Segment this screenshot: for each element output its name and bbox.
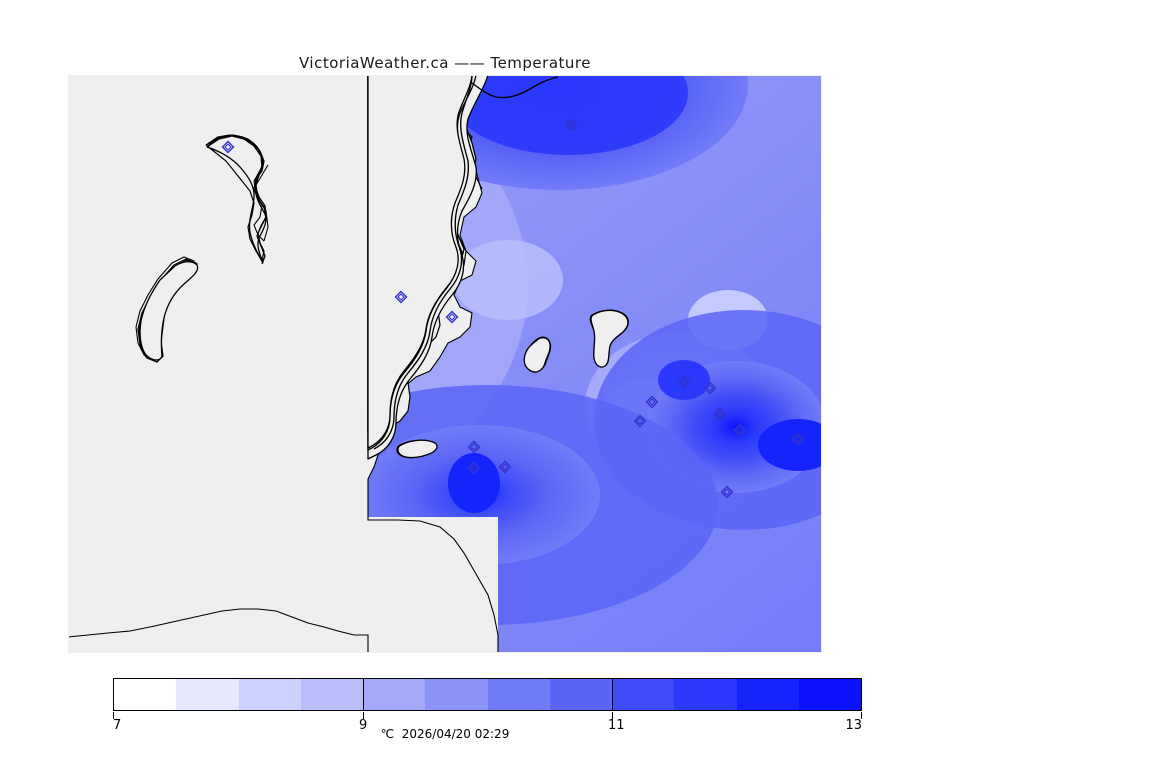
colorbar-segment [363, 679, 425, 710]
colorbar-segment [239, 679, 301, 710]
colorbar-segment [488, 679, 550, 710]
colorbar[interactable] [113, 678, 862, 711]
colorbar-segment [612, 679, 674, 710]
weather-map-page: VictoriaWeather.ca —— Temperature [0, 0, 1152, 768]
colorbar-segment [425, 679, 487, 710]
colorbar-segment [737, 679, 799, 710]
colorbar-segment [176, 679, 238, 710]
page-title: VictoriaWeather.ca —— Temperature [0, 54, 890, 72]
colorbar-segment [550, 679, 612, 710]
colorbar-segment [114, 679, 176, 710]
colorbar-segment [301, 679, 363, 710]
colorbar-segment [674, 679, 736, 710]
colorbar-container[interactable]: 791113 [113, 678, 862, 712]
temperature-contour-map[interactable] [68, 75, 822, 653]
colorbar-segment [799, 679, 861, 710]
colorbar-caption: ℃ 2026/04/20 02:29 [0, 727, 890, 741]
map-panel[interactable] [68, 75, 822, 653]
